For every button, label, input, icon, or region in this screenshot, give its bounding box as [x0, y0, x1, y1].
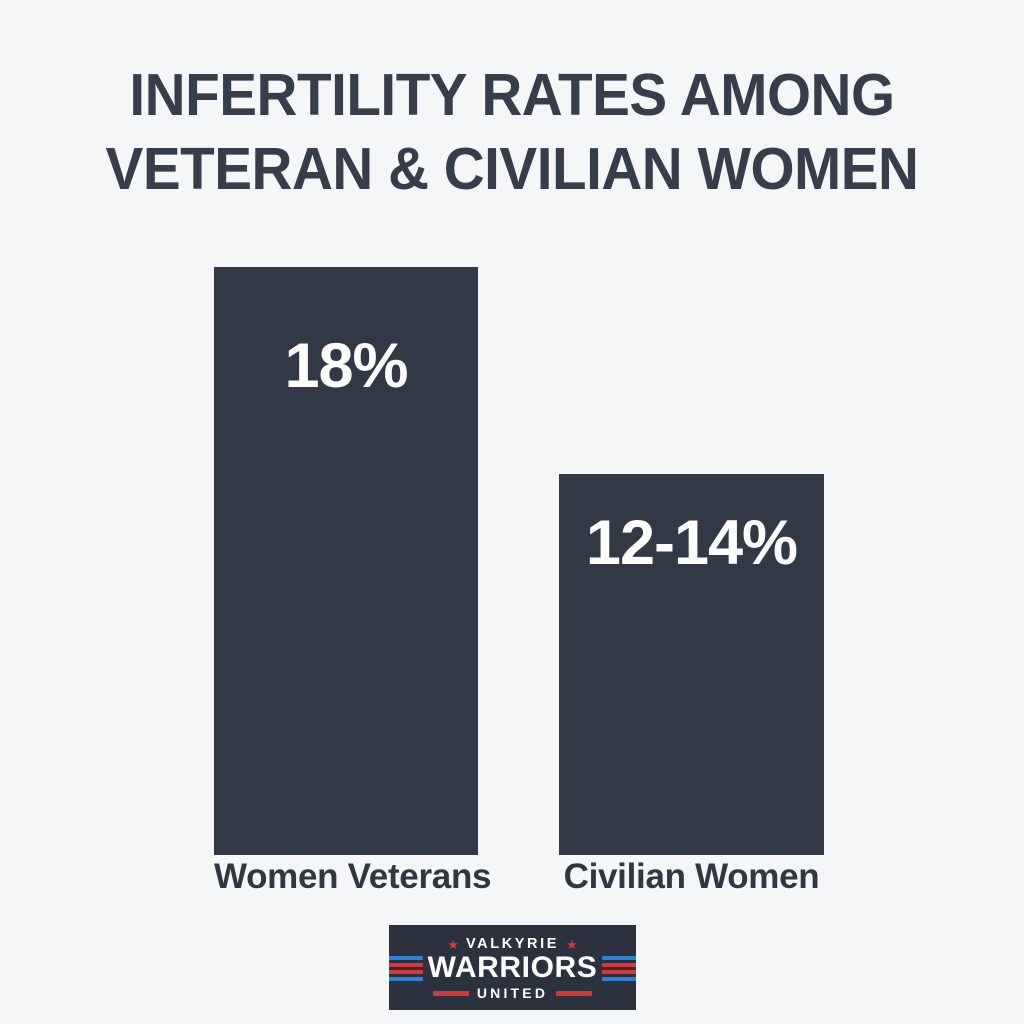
logo-bottom-row: UNITED [433, 984, 592, 1002]
logo-text-warriors: WARRIORS [428, 953, 598, 983]
stripe-red-upper-left [389, 963, 423, 967]
bar-civilian-women: 12-14% [559, 474, 824, 855]
infographic-canvas: INFERTILITY RATES AMONG VETERAN & CIVILI… [0, 0, 1024, 1024]
logo-text-valkyrie: VALKYRIE [466, 937, 559, 952]
logo-text-united: UNITED [477, 986, 548, 1000]
dash-left [433, 991, 469, 996]
stripe-blue-bottom-right [602, 977, 636, 981]
logo-main-row: WARRIORS [389, 953, 636, 983]
bar-chart: 18% Women Veterans 12-14% Civilian Women [0, 0, 1024, 1024]
bar-value-label-women-veterans: 18% [214, 335, 478, 398]
stripe-blue-top-right [602, 956, 636, 960]
bar-value-label-civilian-women: 12-14% [559, 512, 824, 575]
star-icon-right: ★ [566, 938, 578, 951]
dash-right [556, 991, 592, 996]
category-label-women-veterans: Women Veterans [214, 858, 478, 896]
stripe-stack-right [602, 956, 636, 981]
valkyrie-warriors-united-logo: ★ VALKYRIE ★ WARRIORS [389, 925, 636, 1010]
stripe-blue-bottom-left [389, 977, 423, 981]
stripe-stack-left [389, 956, 423, 981]
stripe-blue-top-left [389, 956, 423, 960]
star-icon-left: ★ [447, 938, 459, 951]
category-label-civilian-women: Civilian Women [559, 858, 824, 896]
stripe-red-lower-right [602, 970, 636, 974]
bar-women-veterans: 18% [214, 267, 478, 855]
logo-inner: ★ VALKYRIE ★ WARRIORS [389, 925, 636, 1010]
stripe-red-upper-right [602, 963, 636, 967]
stripe-red-lower-left [389, 970, 423, 974]
